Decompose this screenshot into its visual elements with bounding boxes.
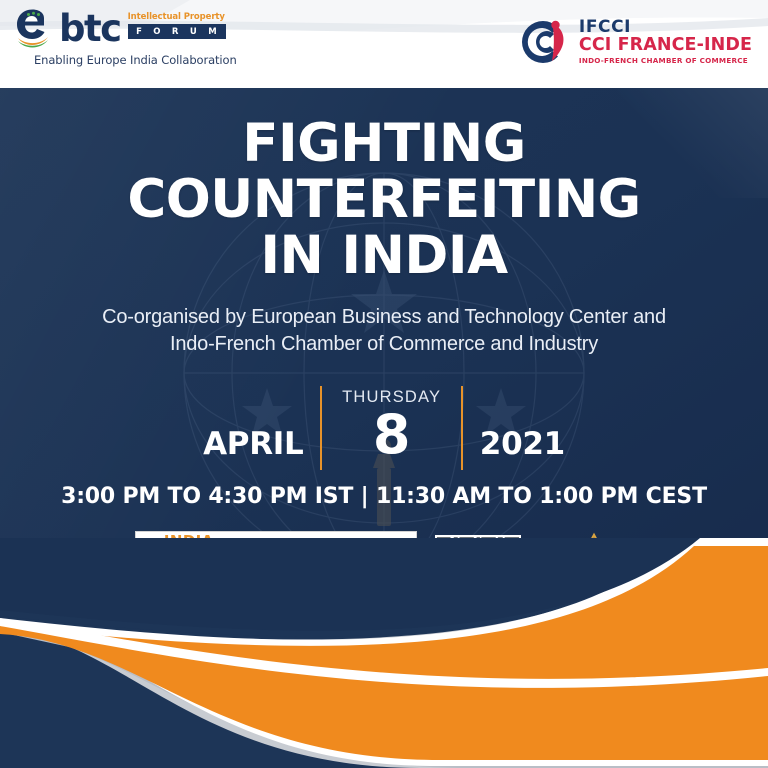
title-line-2: COUNTERFEITING [0,172,768,228]
event-subtitle: Co-organised by European Business and Te… [0,304,768,358]
ifcci-line1: IFCCI [579,18,752,36]
ifcci-line3: INDO-FRENCH CHAMBER OF COMMERCE [579,56,752,66]
ifcci-logo: IFCCI CCI FRANCE-INDE INDO-FRENCH CHAMBE… [519,14,752,70]
badge-letter-m: M [208,27,217,37]
event-times: 3:00 PM TO 4:30 PM IST | 11:30 AM TO 1:0… [0,484,768,509]
title-line-3: IN INDIA [0,228,768,284]
badge-top-text: Intellectual Property [128,12,226,23]
ebtc-leaf-icon [14,9,62,49]
ifcci-line2: CCI FRANCE-INDE [579,36,752,55]
date-day: 8 [342,407,441,463]
title-line-1: FIGHTING [0,116,768,172]
event-poster: btc Intellectual Property F O R U M Enab… [0,0,768,768]
date-day-group: THURSDAY 8 [322,386,461,470]
ifcci-cci-icon [519,17,571,67]
badge-letter-r: R [172,27,179,37]
ebtc-wordmark: btc [59,9,121,49]
event-date-block: APRIL THURSDAY 8 2021 [0,386,768,470]
badge-forum-bar: F O R U M [128,24,226,39]
date-month: APRIL [203,386,320,470]
bottom-curve-graphic [0,538,768,768]
ebtc-logo: btc Intellectual Property F O R U M Enab… [14,9,244,71]
badge-letter-f: F [136,27,142,37]
badge-letter-o: O [153,27,161,37]
subtitle-line-2: Indo-French Chamber of Commerce and Indu… [0,331,768,358]
event-title: FIGHTING COUNTERFEITING IN INDIA [0,116,768,284]
ebtc-ip-forum-badge: Intellectual Property F O R U M [128,12,226,39]
subtitle-line-1: Co-organised by European Business and Te… [0,304,768,331]
ebtc-tagline: Enabling Europe India Collaboration [34,53,244,67]
poster-header: btc Intellectual Property F O R U M Enab… [0,0,768,88]
date-year: 2021 [463,386,565,470]
badge-letter-u: U [190,27,197,37]
